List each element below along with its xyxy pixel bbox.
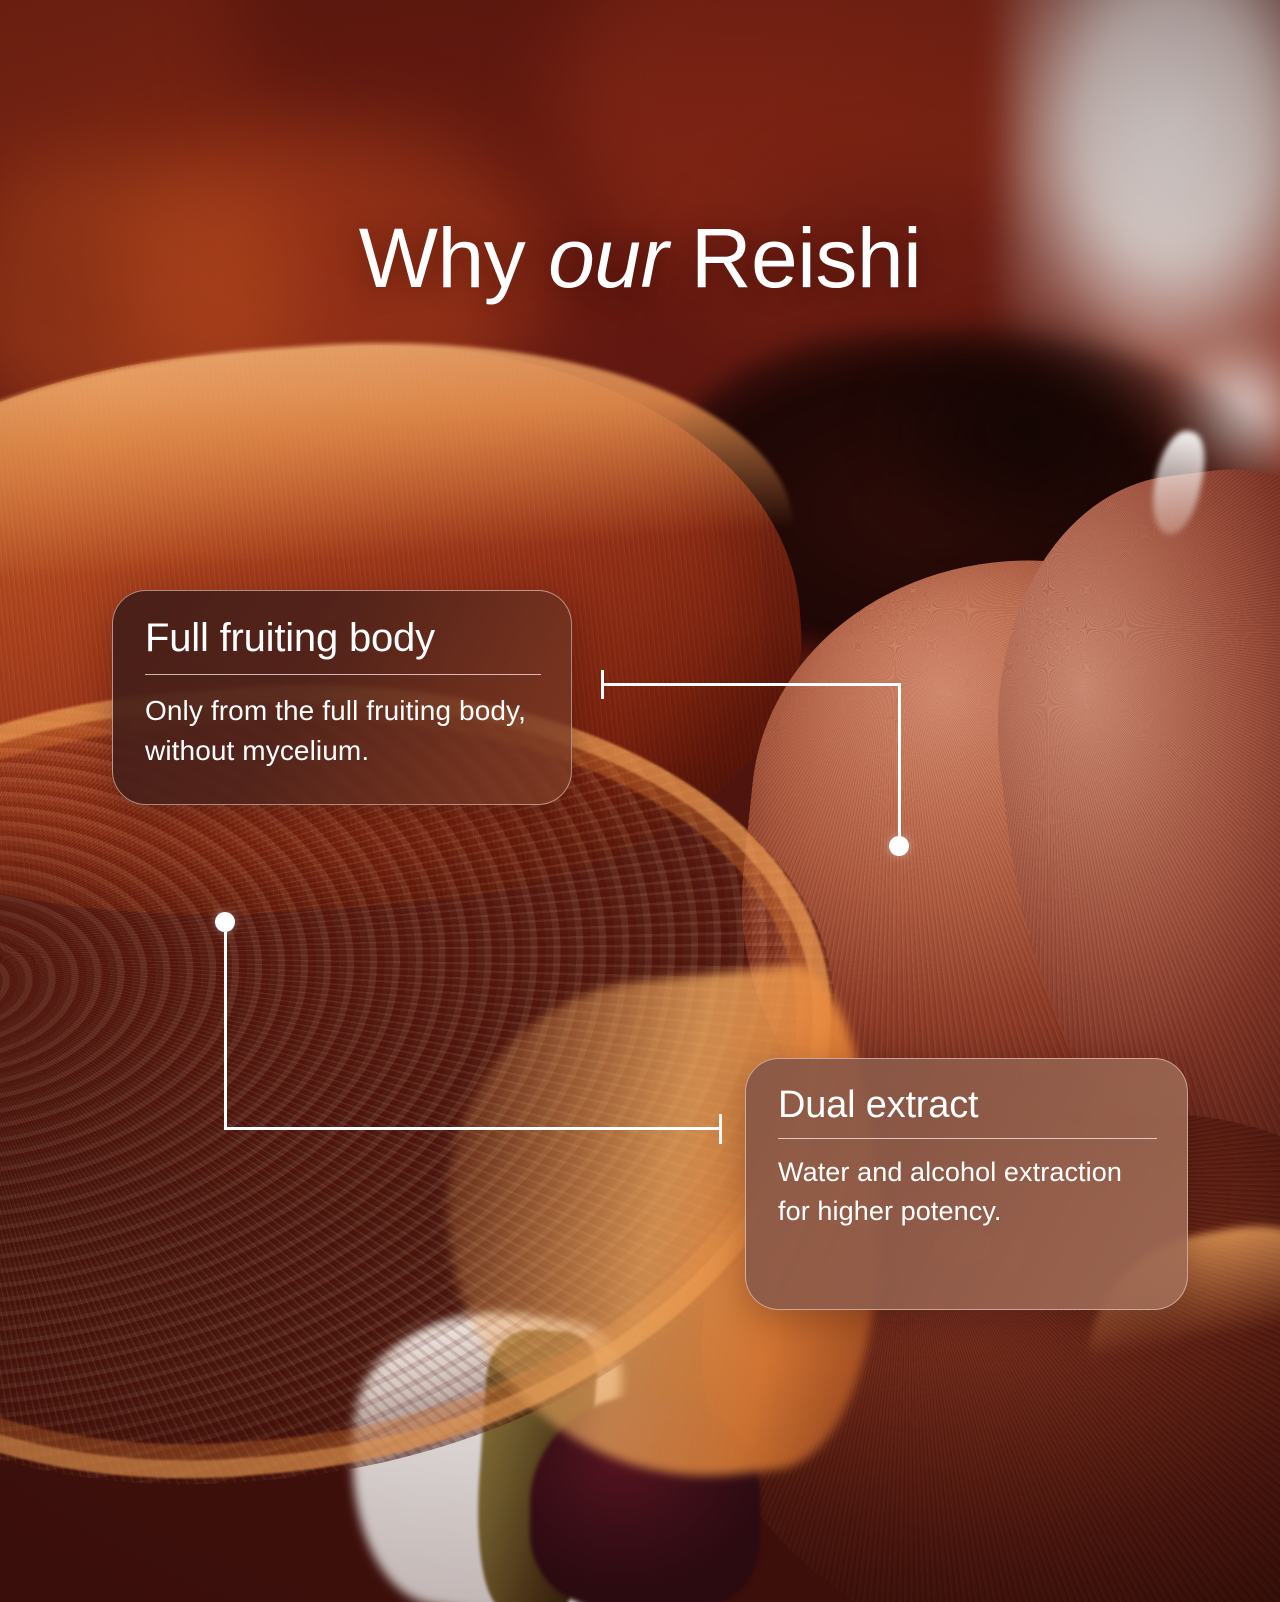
connector-1-dot xyxy=(889,836,909,856)
connector-1-vertical xyxy=(898,683,901,845)
title-prefix: Why xyxy=(359,211,548,305)
connector-2-vertical xyxy=(224,922,227,1130)
info-card-full-fruiting-body[interactable]: Full fruiting body Only from the full fr… xyxy=(112,590,572,805)
poster-canvas: Why our Reishi Full fruiting body Only f… xyxy=(0,0,1280,1602)
connector-2-horizontal xyxy=(224,1127,722,1130)
title-suffix: Reishi xyxy=(668,211,921,305)
connector-2-end-tick xyxy=(719,1114,722,1144)
info-card-title: Dual extract xyxy=(778,1085,1155,1126)
info-card-divider xyxy=(145,674,541,675)
connector-1-horizontal xyxy=(601,683,901,686)
info-card-divider xyxy=(778,1138,1157,1139)
info-card-body: Only from the full fruiting body, withou… xyxy=(145,691,539,771)
info-card-body: Water and alcohol extraction for higher … xyxy=(778,1153,1155,1231)
page-title: Why our Reishi xyxy=(0,216,1280,302)
info-card-title: Full fruiting body xyxy=(145,617,539,660)
title-emphasis: our xyxy=(548,211,668,305)
info-card-dual-extract[interactable]: Dual extract Water and alcohol extractio… xyxy=(745,1058,1188,1310)
